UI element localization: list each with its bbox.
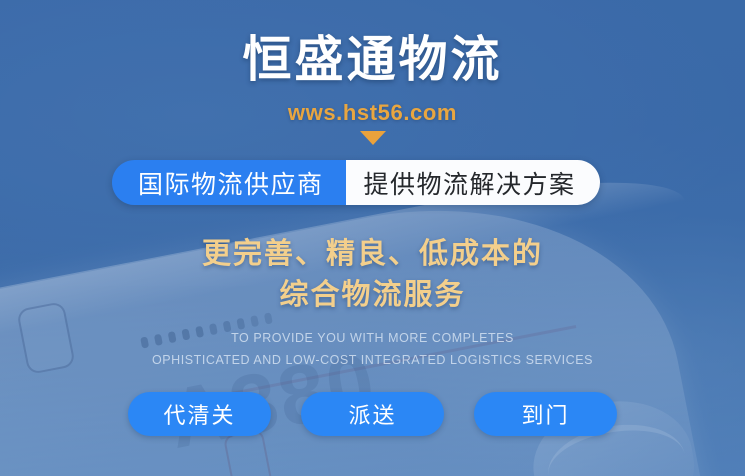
button-delivery[interactable]: 派送 [301, 392, 444, 436]
button-door-to-door[interactable]: 到门 [474, 392, 617, 436]
promotional-banner: A380 恒盛通物流 wws.hst56.com 国际物流供应商 提供物流解决方… [0, 0, 745, 476]
banner-content: 恒盛通物流 wws.hst56.com 国际物流供应商 提供物流解决方案 更完善… [0, 0, 745, 476]
company-title: 恒盛通物流 [0, 34, 745, 88]
badge-solution-label: 提供物流解决方案 [346, 160, 600, 205]
subtitle-line-2: OPHISTICATED AND LOW-COST INTEGRATED LOG… [0, 350, 745, 372]
subtitle-line-1: TO PROVIDE YOU WITH MORE COMPLETES [231, 331, 514, 345]
service-button-group: 代清关 派送 到门 [0, 392, 745, 436]
website-url[interactable]: wws.hst56.com [0, 100, 745, 126]
button-customs-clearance[interactable]: 代清关 [128, 392, 271, 436]
tagline: 更完善、精良、低成本的 综合物流服务 [0, 234, 745, 316]
badge-supplier-label: 国际物流供应商 [112, 160, 346, 205]
service-badge: 国际物流供应商 提供物流解决方案 [112, 160, 600, 205]
english-subtitle: TO PROVIDE YOU WITH MORE COMPLETES OPHIS… [0, 328, 745, 371]
tagline-line-2: 综合物流服务 [0, 275, 745, 316]
tagline-line-1: 更完善、精良、低成本的 [202, 238, 543, 270]
triangle-down-icon [360, 131, 386, 145]
